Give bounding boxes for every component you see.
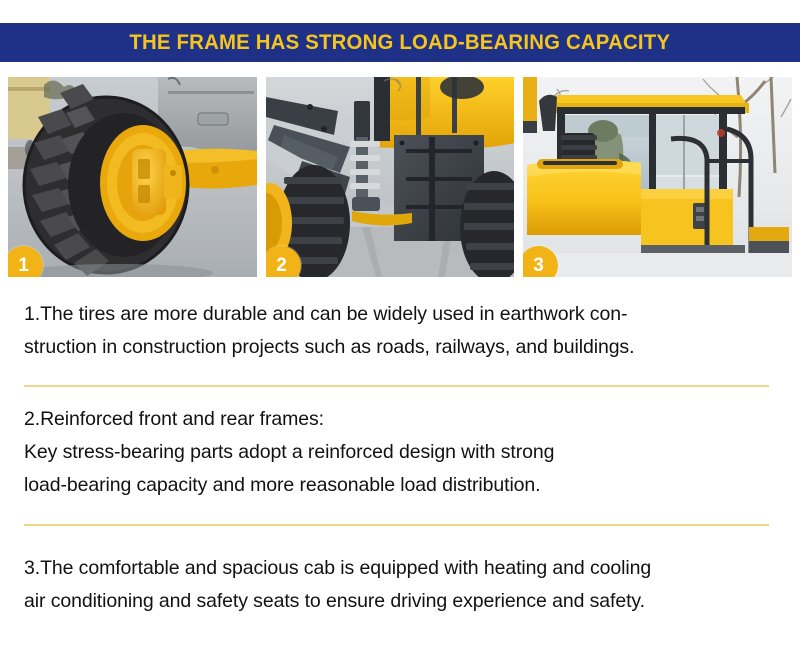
paragraph-3-line-1: 3.The comfortable and spacious cab is eq…: [24, 552, 776, 585]
header-banner: THE FRAME HAS STRONG LOAD-BEARING CAPACI…: [0, 23, 800, 62]
spacer: [24, 364, 776, 385]
feature-paragraph-1: 1.The tires are more durable and can be …: [24, 298, 776, 364]
product-feature-page: THE FRAME HAS STRONG LOAD-BEARING CAPACI…: [0, 0, 800, 654]
feature-paragraph-2: 2.Reinforced front and rear frames: Key …: [24, 403, 776, 502]
feature-description: 1.The tires are more durable and can be …: [24, 298, 776, 618]
paragraph-3-line-2: air conditioning and safety seats to ens…: [24, 585, 776, 618]
paragraph-2-line-2: Key stress-bearing parts adopt a reinfor…: [24, 436, 776, 469]
paragraph-2-line-3: load-bearing capacity and more reasonabl…: [24, 469, 776, 502]
spacer: [24, 526, 776, 552]
spacer: [24, 502, 776, 524]
page-title: THE FRAME HAS STRONG LOAD-BEARING CAPACI…: [130, 31, 671, 55]
tire-photo: [8, 77, 257, 277]
image-gallery: 1: [8, 77, 792, 277]
cab-photo: [523, 77, 792, 277]
frame-photo: [266, 77, 514, 277]
gallery-item-1[interactable]: 1: [8, 77, 257, 277]
paragraph-2-line-1: 2.Reinforced front and rear frames:: [24, 403, 776, 436]
paragraph-1-line-1: 1.The tires are more durable and can be …: [24, 298, 776, 331]
gallery-item-3[interactable]: 3: [523, 77, 792, 277]
paragraph-1-line-2: struction in construction projects such …: [24, 331, 776, 364]
gallery-item-2[interactable]: 2: [266, 77, 514, 277]
feature-paragraph-3: 3.The comfortable and spacious cab is eq…: [24, 552, 776, 618]
spacer: [24, 387, 776, 403]
